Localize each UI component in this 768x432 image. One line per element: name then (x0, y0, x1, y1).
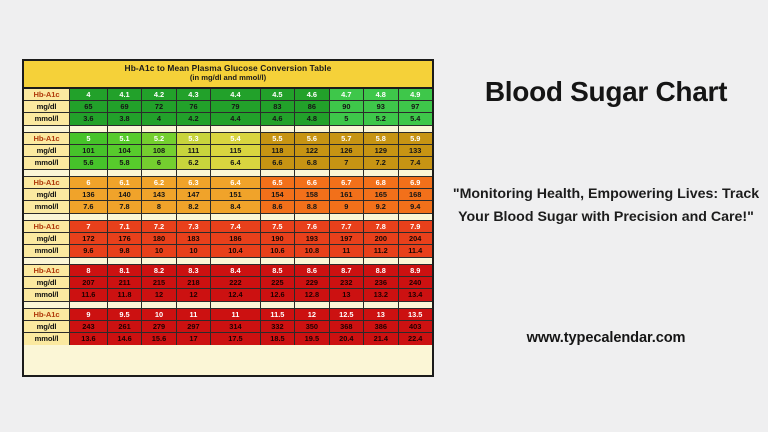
table-block: Hb-A1c77.17.27.37.47.57.67.77.87.9mg/dl1… (24, 221, 432, 257)
data-cell: 7.8 (108, 201, 142, 213)
data-cell: 10.8 (295, 245, 329, 257)
data-cell: 9.5 (108, 309, 142, 320)
block-separator (24, 125, 432, 133)
separator-cell (399, 302, 432, 308)
data-cell: 5.2 (142, 133, 176, 144)
separator-cell (330, 214, 364, 220)
data-cell: 158 (295, 189, 329, 200)
data-cell: 147 (177, 189, 211, 200)
row-cells: 136140143147151154158161165168 (70, 189, 432, 200)
data-cell: 10 (142, 309, 176, 320)
data-cell: 83 (261, 101, 295, 112)
separator-cells (70, 214, 432, 220)
separator-cell (108, 302, 142, 308)
data-cell: 3.6 (70, 113, 108, 125)
row-cells: 11.611.8121212.412.612.81313.213.4 (70, 289, 432, 301)
row-cells: 5.65.866.26.46.66.877.27.4 (70, 157, 432, 169)
data-cell: 76 (177, 101, 211, 112)
row-cells: 66.16.26.36.46.56.66.76.86.9 (70, 177, 432, 188)
data-cell: 90 (330, 101, 364, 112)
separator-label-cell (24, 214, 70, 220)
data-cell: 93 (364, 101, 398, 112)
table-row: Hb-A1c99.510111111.51212.51313.5 (24, 309, 432, 321)
data-cell: 11 (330, 245, 364, 257)
table-row: Hb-A1c88.18.28.38.48.58.68.78.88.9 (24, 265, 432, 277)
data-cell: 6.4 (211, 177, 261, 188)
data-cell: 6.3 (177, 177, 211, 188)
separator-cell (70, 170, 108, 176)
page-title: Blood Sugar Chart (444, 76, 768, 108)
data-cell: 111 (177, 145, 211, 156)
separator-cell (108, 126, 142, 132)
table-row: mg/dl207211215218222225229232236240 (24, 277, 432, 289)
data-cell: 172 (70, 233, 108, 244)
separator-cells (70, 302, 432, 308)
data-cell: 5.4 (211, 133, 261, 144)
table-row: mg/dl172176180183186190193197200204 (24, 233, 432, 245)
separator-cell (364, 302, 398, 308)
data-cell: 17 (177, 333, 211, 345)
data-cell: 5.3 (177, 133, 211, 144)
data-cell: 5.1 (108, 133, 142, 144)
table-row: Hb-A1c44.14.24.34.44.54.64.74.84.9 (24, 89, 432, 101)
row-label-hba1c: Hb-A1c (24, 221, 70, 232)
data-cell: 9 (70, 309, 108, 320)
data-cell: 154 (261, 189, 295, 200)
data-cell: 7.7 (330, 221, 364, 232)
data-cell: 6.4 (211, 157, 261, 169)
separator-cell (261, 170, 295, 176)
row-label-hba1c: Hb-A1c (24, 133, 70, 144)
table-row: mmol/l11.611.8121212.412.612.81313.213.4 (24, 289, 432, 301)
data-cell: 5.8 (364, 133, 398, 144)
data-cell: 7 (330, 157, 364, 169)
data-cell: 140 (108, 189, 142, 200)
data-cell: 261 (108, 321, 142, 332)
separator-cell (364, 126, 398, 132)
data-cell: 6.6 (261, 157, 295, 169)
data-cell: 6.5 (261, 177, 295, 188)
table-row: mg/dl136140143147151154158161165168 (24, 189, 432, 201)
table-row: mmol/l9.69.8101010.410.610.81111.211.4 (24, 245, 432, 257)
separator-cell (211, 258, 261, 264)
data-cell: 403 (399, 321, 432, 332)
data-cell: 69 (108, 101, 142, 112)
data-cell: 4.2 (142, 89, 176, 100)
data-cell: 6 (70, 177, 108, 188)
data-cell: 97 (399, 101, 432, 112)
separator-cell (177, 214, 211, 220)
data-cell: 115 (211, 145, 261, 156)
data-cell: 297 (177, 321, 211, 332)
separator-cell (330, 258, 364, 264)
data-cell: 5.6 (70, 157, 108, 169)
separator-cell (399, 170, 432, 176)
data-cell: 8.1 (108, 265, 142, 276)
data-cell: 136 (70, 189, 108, 200)
row-label-mgdl: mg/dl (24, 145, 70, 156)
separator-cell (70, 302, 108, 308)
data-cell: 8.9 (399, 265, 432, 276)
separator-cells (70, 258, 432, 264)
data-cell: 4.4 (211, 113, 261, 125)
separator-cell (364, 214, 398, 220)
data-cell: 9.8 (108, 245, 142, 257)
separator-cell (142, 214, 176, 220)
data-cell: 165 (364, 189, 398, 200)
data-cell: 200 (364, 233, 398, 244)
separator-cell (295, 302, 329, 308)
data-cell: 118 (261, 145, 295, 156)
data-cell: 11.4 (399, 245, 432, 257)
separator-cells (70, 170, 432, 176)
data-cell: 12 (295, 309, 329, 320)
row-label-mgdl: mg/dl (24, 233, 70, 244)
data-cell: 151 (211, 189, 261, 200)
data-cell: 6.7 (330, 177, 364, 188)
data-cell: 6.9 (399, 177, 432, 188)
data-cell: 5.2 (364, 113, 398, 125)
data-cell: 7.6 (295, 221, 329, 232)
data-cell: 12.4 (211, 289, 261, 301)
data-cell: 8 (142, 201, 176, 213)
data-cell: 22.4 (399, 333, 432, 345)
data-cell: 6.6 (295, 177, 329, 188)
data-cell: 9.4 (399, 201, 432, 213)
data-cell: 225 (261, 277, 295, 288)
data-cell: 8.2 (177, 201, 211, 213)
table-blocks: Hb-A1c44.14.24.34.44.54.64.74.84.9mg/dl6… (24, 89, 432, 375)
data-cell: 6.2 (177, 157, 211, 169)
data-cell: 8.4 (211, 201, 261, 213)
row-label-mmol: mmol/l (24, 113, 70, 125)
data-cell: 5 (330, 113, 364, 125)
data-cell: 8.6 (295, 265, 329, 276)
data-cell: 236 (364, 277, 398, 288)
data-cell: 13.6 (70, 333, 108, 345)
data-cell: 4.9 (399, 89, 432, 100)
data-cell: 4 (70, 89, 108, 100)
table-row: mmol/l3.63.844.24.44.64.855.25.4 (24, 113, 432, 125)
data-cell: 222 (211, 277, 261, 288)
data-cell: 215 (142, 277, 176, 288)
row-cells: 65697276798386909397 (70, 101, 432, 112)
separator-cell (142, 126, 176, 132)
tagline-text: "Monitoring Health, Empowering Lives: Tr… (452, 183, 760, 229)
separator-cell (261, 126, 295, 132)
data-cell: 161 (330, 189, 364, 200)
separator-cell (142, 170, 176, 176)
data-cell: 10 (177, 245, 211, 257)
table-row: mg/dl101104108111115118122126129133 (24, 145, 432, 157)
right-text-panel: Blood Sugar Chart "Monitoring Health, Em… (444, 0, 768, 432)
data-cell: 218 (177, 277, 211, 288)
table-row: Hb-A1c55.15.25.35.45.55.65.75.85.9 (24, 133, 432, 145)
table-row: Hb-A1c77.17.27.37.47.57.67.77.87.9 (24, 221, 432, 233)
row-cells: 55.15.25.35.45.55.65.75.85.9 (70, 133, 432, 144)
row-label-mgdl: mg/dl (24, 277, 70, 288)
separator-cell (295, 126, 329, 132)
data-cell: 7.4 (399, 157, 432, 169)
data-cell: 12.6 (261, 289, 295, 301)
data-cell: 4.1 (108, 89, 142, 100)
data-cell: 7.8 (364, 221, 398, 232)
data-cell: 211 (108, 277, 142, 288)
data-cell: 9 (330, 201, 364, 213)
separator-cell (211, 170, 261, 176)
row-label-hba1c: Hb-A1c (24, 177, 70, 188)
separator-label-cell (24, 258, 70, 264)
data-cell: 183 (177, 233, 211, 244)
row-cells: 243261279297314332350368386403 (70, 321, 432, 332)
data-cell: 12.8 (295, 289, 329, 301)
data-cell: 5.4 (399, 113, 432, 125)
data-cell: 8.7 (330, 265, 364, 276)
row-label-hba1c: Hb-A1c (24, 89, 70, 100)
data-cell: 10.6 (261, 245, 295, 257)
data-cell: 5 (70, 133, 108, 144)
data-cell: 7.4 (211, 221, 261, 232)
data-cell: 279 (142, 321, 176, 332)
data-cell: 368 (330, 321, 364, 332)
separator-cell (364, 258, 398, 264)
data-cell: 12 (177, 289, 211, 301)
separator-cell (295, 214, 329, 220)
data-cell: 101 (70, 145, 108, 156)
data-cell: 11.2 (364, 245, 398, 257)
data-cell: 8.2 (142, 265, 176, 276)
row-label-mgdl: mg/dl (24, 101, 70, 112)
data-cell: 11.8 (108, 289, 142, 301)
data-cell: 65 (70, 101, 108, 112)
data-cell: 232 (330, 277, 364, 288)
data-cell: 7.9 (399, 221, 432, 232)
block-separator (24, 169, 432, 177)
row-cells: 9.69.8101010.410.610.81111.211.4 (70, 245, 432, 257)
separator-cell (399, 258, 432, 264)
table-block: Hb-A1c99.510111111.51212.51313.5mg/dl243… (24, 309, 432, 345)
data-cell: 11.6 (70, 289, 108, 301)
row-label-hba1c: Hb-A1c (24, 309, 70, 320)
separator-cell (142, 258, 176, 264)
data-cell: 6.8 (295, 157, 329, 169)
data-cell: 7.2 (142, 221, 176, 232)
data-cell: 14.6 (108, 333, 142, 345)
data-cell: 186 (211, 233, 261, 244)
data-cell: 8.5 (261, 265, 295, 276)
data-cell: 19.5 (295, 333, 329, 345)
block-separator (24, 301, 432, 309)
row-cells: 7.67.888.28.48.68.899.29.4 (70, 201, 432, 213)
data-cell: 5.9 (399, 133, 432, 144)
data-cell: 7.5 (261, 221, 295, 232)
separator-cell (261, 214, 295, 220)
data-cell: 21.4 (364, 333, 398, 345)
table-block: Hb-A1c88.18.28.38.48.58.68.78.88.9mg/dl2… (24, 265, 432, 301)
separator-cell (177, 258, 211, 264)
data-cell: 4.8 (295, 113, 329, 125)
data-cell: 17.5 (211, 333, 261, 345)
data-cell: 6 (142, 157, 176, 169)
row-cells: 13.614.615.61717.518.519.520.421.422.4 (70, 333, 432, 345)
data-cell: 168 (399, 189, 432, 200)
data-cell: 180 (142, 233, 176, 244)
separator-label-cell (24, 170, 70, 176)
data-cell: 6.8 (364, 177, 398, 188)
row-cells: 88.18.28.38.48.58.68.78.88.9 (70, 265, 432, 276)
separator-cell (108, 258, 142, 264)
separator-cell (211, 126, 261, 132)
data-cell: 15.6 (142, 333, 176, 345)
data-cell: 314 (211, 321, 261, 332)
block-separator (24, 257, 432, 265)
separator-cell (108, 214, 142, 220)
data-cell: 3.8 (108, 113, 142, 125)
data-cell: 197 (330, 233, 364, 244)
separator-cell (211, 214, 261, 220)
data-cell: 240 (399, 277, 432, 288)
data-cell: 243 (70, 321, 108, 332)
data-cell: 5.5 (261, 133, 295, 144)
separator-cell (70, 258, 108, 264)
data-cell: 193 (295, 233, 329, 244)
block-separator (24, 213, 432, 221)
row-cells: 3.63.844.24.44.64.855.25.4 (70, 113, 432, 125)
row-label-mmol: mmol/l (24, 157, 70, 169)
data-cell: 143 (142, 189, 176, 200)
data-cell: 13.2 (364, 289, 398, 301)
separator-cell (177, 170, 211, 176)
data-cell: 7.3 (177, 221, 211, 232)
data-cell: 104 (108, 145, 142, 156)
separator-cell (70, 126, 108, 132)
separator-cell (399, 214, 432, 220)
data-cell: 204 (399, 233, 432, 244)
data-cell: 126 (330, 145, 364, 156)
separator-cell (211, 302, 261, 308)
table-block: Hb-A1c55.15.25.35.45.55.65.75.85.9mg/dl1… (24, 133, 432, 169)
data-cell: 8.8 (295, 201, 329, 213)
data-cell: 11.5 (261, 309, 295, 320)
data-cell: 10 (142, 245, 176, 257)
website-url: www.typecalendar.com (444, 330, 768, 346)
table-row: mg/dl65697276798386909397 (24, 101, 432, 113)
data-cell: 12 (142, 289, 176, 301)
data-cell: 12.5 (330, 309, 364, 320)
data-cell: 9.6 (70, 245, 108, 257)
row-cells: 77.17.27.37.47.57.67.77.87.9 (70, 221, 432, 232)
table-subtitle: (in mg/dl and mmol/l) (24, 74, 432, 83)
table-block: Hb-A1c44.14.24.34.44.54.64.74.84.9mg/dl6… (24, 89, 432, 125)
row-label-mgdl: mg/dl (24, 321, 70, 332)
row-cells: 207211215218222225229232236240 (70, 277, 432, 288)
data-cell: 122 (295, 145, 329, 156)
data-cell: 133 (399, 145, 432, 156)
data-cell: 79 (211, 101, 261, 112)
row-cells: 101104108111115118122126129133 (70, 145, 432, 156)
data-cell: 7.6 (70, 201, 108, 213)
separator-cell (330, 126, 364, 132)
data-cell: 5.6 (295, 133, 329, 144)
separator-cells (70, 126, 432, 132)
separator-cell (177, 126, 211, 132)
row-label-hba1c: Hb-A1c (24, 265, 70, 276)
data-cell: 7 (70, 221, 108, 232)
data-cell: 13 (330, 289, 364, 301)
table-row: mg/dl243261279297314332350368386403 (24, 321, 432, 333)
row-cells: 44.14.24.34.44.54.64.74.84.9 (70, 89, 432, 100)
table-row: Hb-A1c66.16.26.36.46.56.66.76.86.9 (24, 177, 432, 189)
data-cell: 8.8 (364, 265, 398, 276)
data-cell: 6.1 (108, 177, 142, 188)
data-cell: 4.7 (330, 89, 364, 100)
data-cell: 4.2 (177, 113, 211, 125)
row-cells: 99.510111111.51212.51313.5 (70, 309, 432, 320)
row-label-mmol: mmol/l (24, 333, 70, 345)
data-cell: 5.7 (330, 133, 364, 144)
separator-cell (295, 170, 329, 176)
separator-cell (399, 126, 432, 132)
row-label-mmol: mmol/l (24, 289, 70, 301)
data-cell: 229 (295, 277, 329, 288)
data-cell: 13.5 (399, 309, 432, 320)
data-cell: 4.3 (177, 89, 211, 100)
table-block: Hb-A1c66.16.26.36.46.56.66.76.86.9mg/dl1… (24, 177, 432, 213)
separator-cell (330, 302, 364, 308)
data-cell: 176 (108, 233, 142, 244)
data-cell: 4.8 (364, 89, 398, 100)
data-cell: 386 (364, 321, 398, 332)
data-cell: 18.5 (261, 333, 295, 345)
separator-cell (295, 258, 329, 264)
separator-label-cell (24, 302, 70, 308)
row-cells: 172176180183186190193197200204 (70, 233, 432, 244)
separator-cell (261, 302, 295, 308)
data-cell: 20.4 (330, 333, 364, 345)
data-cell: 8.4 (211, 265, 261, 276)
table-row: mmol/l5.65.866.26.46.66.877.27.4 (24, 157, 432, 169)
conversion-table-card: Hb-A1c to Mean Plasma Glucose Conversion… (22, 59, 434, 377)
data-cell: 5.8 (108, 157, 142, 169)
separator-cell (177, 302, 211, 308)
row-label-mgdl: mg/dl (24, 189, 70, 200)
data-cell: 7.1 (108, 221, 142, 232)
data-cell: 11 (211, 309, 261, 320)
separator-cell (108, 170, 142, 176)
data-cell: 86 (295, 101, 329, 112)
data-cell: 9.2 (364, 201, 398, 213)
data-cell: 13.4 (399, 289, 432, 301)
data-cell: 207 (70, 277, 108, 288)
data-cell: 108 (142, 145, 176, 156)
data-cell: 4.6 (261, 113, 295, 125)
data-cell: 4.4 (211, 89, 261, 100)
separator-cell (330, 170, 364, 176)
data-cell: 8.6 (261, 201, 295, 213)
data-cell: 4.5 (261, 89, 295, 100)
table-row: mmol/l13.614.615.61717.518.519.520.421.4… (24, 333, 432, 345)
data-cell: 129 (364, 145, 398, 156)
separator-cell (142, 302, 176, 308)
data-cell: 11 (177, 309, 211, 320)
data-cell: 4.6 (295, 89, 329, 100)
row-label-mmol: mmol/l (24, 245, 70, 257)
data-cell: 72 (142, 101, 176, 112)
row-label-mmol: mmol/l (24, 201, 70, 213)
data-cell: 190 (261, 233, 295, 244)
data-cell: 350 (295, 321, 329, 332)
separator-cell (364, 170, 398, 176)
